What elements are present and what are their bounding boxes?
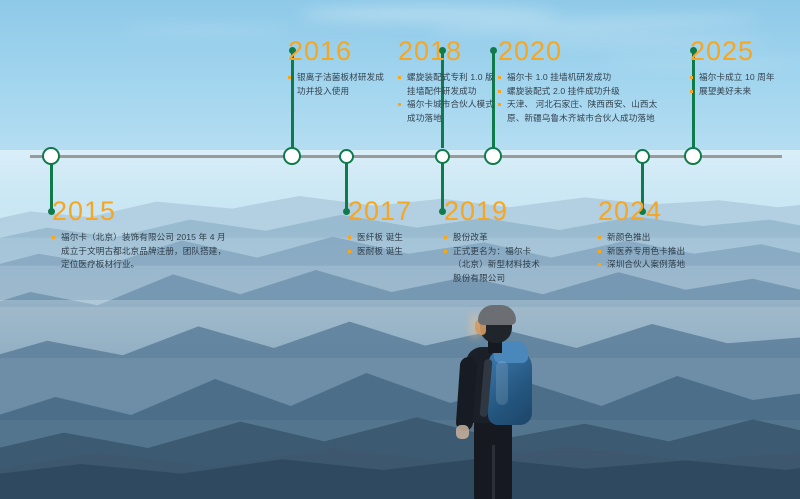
timeline-node-2017[interactable] bbox=[339, 149, 354, 164]
timeline-axis bbox=[30, 155, 782, 158]
timeline-entry-2025: 2025 福尔卡成立 10 周年 展望美好未来 bbox=[690, 36, 790, 98]
timeline-entry-2018: 2018 螺旋装配式专利 1.0 版挂墙配件研发成功 福尔卡城市合伙人模式成功落… bbox=[398, 36, 494, 125]
timeline-bullets-2020: 福尔卡 1.0 挂墙机研发成功 螺旋装配式 2.0 挂件成功升级 天津、 河北石… bbox=[498, 71, 668, 125]
timeline-year-2024: 2024 bbox=[598, 196, 708, 226]
timeline-node-2016[interactable] bbox=[283, 147, 301, 165]
timeline-year-2016: 2016 bbox=[288, 36, 384, 66]
timeline-node-2015[interactable] bbox=[42, 147, 60, 165]
timeline-bullets-2015: 福尔卡（北京）装饰有限公司 2015 年 4 月成立于文明古都北京品牌注册，团队… bbox=[52, 231, 227, 272]
timeline-node-2025[interactable] bbox=[684, 147, 702, 165]
timeline-bullets-2016: 银离子洁菌板材研发成功并投入使用 bbox=[288, 71, 384, 98]
timeline-entry-2024: 2024 新颜色推出 新医养专用色卡推出 深圳合伙人案例落地 bbox=[598, 196, 708, 272]
hiker-figure bbox=[444, 305, 556, 499]
hiker-hand bbox=[456, 425, 469, 439]
hiker-backpack-highlight bbox=[496, 361, 508, 405]
timeline-bullets-2024: 新颜色推出 新医养专用色卡推出 深圳合伙人案例落地 bbox=[598, 231, 708, 272]
hiker-hat bbox=[478, 305, 516, 325]
timeline-bullet: 展望美好未来 bbox=[690, 85, 790, 99]
timeline-bullet: 正式更名为：福尔卡（北京）新型材料技术股份有限公司 bbox=[444, 245, 544, 286]
timeline-bullet: 新医养专用色卡推出 bbox=[598, 245, 708, 259]
timeline-entry-2019: 2019 股份改革 正式更名为：福尔卡（北京）新型材料技术股份有限公司 bbox=[444, 196, 544, 285]
timeline-entry-2017: 2017 医纤板 诞生 医耐板 诞生 bbox=[348, 196, 428, 258]
timeline-year-2015: 2015 bbox=[52, 196, 227, 226]
timeline-year-2018: 2018 bbox=[398, 36, 494, 66]
timeline-year-2025: 2025 bbox=[690, 36, 790, 66]
timeline-node-2024[interactable] bbox=[635, 149, 650, 164]
timeline-bullets-2019: 股份改革 正式更名为：福尔卡（北京）新型材料技术股份有限公司 bbox=[444, 231, 544, 285]
timeline-infographic: 2015 福尔卡（北京）装饰有限公司 2015 年 4 月成立于文明古都北京品牌… bbox=[0, 0, 800, 499]
timeline-node-2020[interactable] bbox=[484, 147, 502, 165]
timeline-bullet: 福尔卡城市合伙人模式成功落地 bbox=[398, 98, 494, 125]
timeline-entry-2020: 2020 福尔卡 1.0 挂墙机研发成功 螺旋装配式 2.0 挂件成功升级 天津… bbox=[498, 36, 668, 125]
timeline-bullet: 福尔卡（北京）装饰有限公司 2015 年 4 月成立于文明古都北京品牌注册，团队… bbox=[52, 231, 227, 272]
timeline-bullet: 银离子洁菌板材研发成功并投入使用 bbox=[288, 71, 384, 98]
timeline-bullet: 医纤板 诞生 bbox=[348, 231, 428, 245]
timeline-bullet: 天津、 河北石家庄、陕西西安、山西太原、新疆乌鲁木齐城市合伙人成功落地 bbox=[498, 98, 668, 125]
timeline-bullet: 螺旋装配式专利 1.0 版挂墙配件研发成功 bbox=[398, 71, 494, 98]
timeline-bullet: 新颜色推出 bbox=[598, 231, 708, 245]
cloud-wisp bbox=[120, 26, 290, 35]
hiker-leg-gap bbox=[492, 445, 495, 499]
timeline-entry-2015: 2015 福尔卡（北京）装饰有限公司 2015 年 4 月成立于文明古都北京品牌… bbox=[52, 196, 227, 272]
timeline-bullet: 福尔卡 1.0 挂墙机研发成功 bbox=[498, 71, 668, 85]
timeline-year-2019: 2019 bbox=[444, 196, 544, 226]
timeline-bullet: 医耐板 诞生 bbox=[348, 245, 428, 259]
timeline-bullets-2018: 螺旋装配式专利 1.0 版挂墙配件研发成功 福尔卡城市合伙人模式成功落地 bbox=[398, 71, 494, 125]
timeline-bullet: 股份改革 bbox=[444, 231, 544, 245]
timeline-entry-2016: 2016 银离子洁菌板材研发成功并投入使用 bbox=[288, 36, 384, 98]
timeline-year-2017: 2017 bbox=[348, 196, 428, 226]
cloud-wisp bbox=[300, 6, 560, 22]
timeline-node-2018[interactable] bbox=[435, 149, 450, 164]
timeline-bullet: 福尔卡成立 10 周年 bbox=[690, 71, 790, 85]
timeline-bullets-2025: 福尔卡成立 10 周年 展望美好未来 bbox=[690, 71, 790, 98]
timeline-bullet: 深圳合伙人案例落地 bbox=[598, 258, 708, 272]
timeline-bullet: 螺旋装配式 2.0 挂件成功升级 bbox=[498, 85, 668, 99]
timeline-bullets-2017: 医纤板 诞生 医耐板 诞生 bbox=[348, 231, 428, 258]
timeline-year-2020: 2020 bbox=[498, 36, 668, 66]
